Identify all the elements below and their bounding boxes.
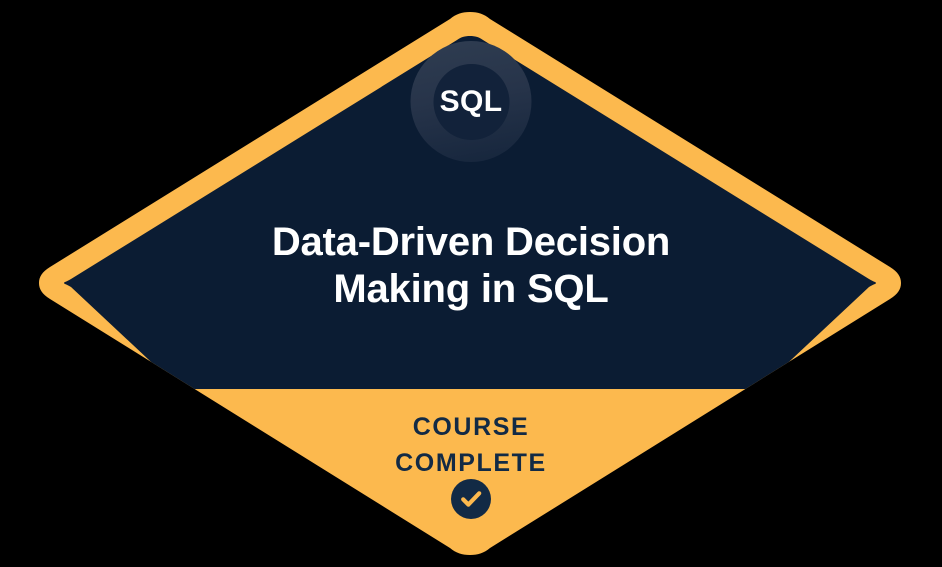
badge-diamond-shape <box>0 0 942 567</box>
badge-canvas: SQL Data-Driven Decision Making in SQL C… <box>0 0 942 567</box>
badge-inner-panel <box>64 36 876 389</box>
